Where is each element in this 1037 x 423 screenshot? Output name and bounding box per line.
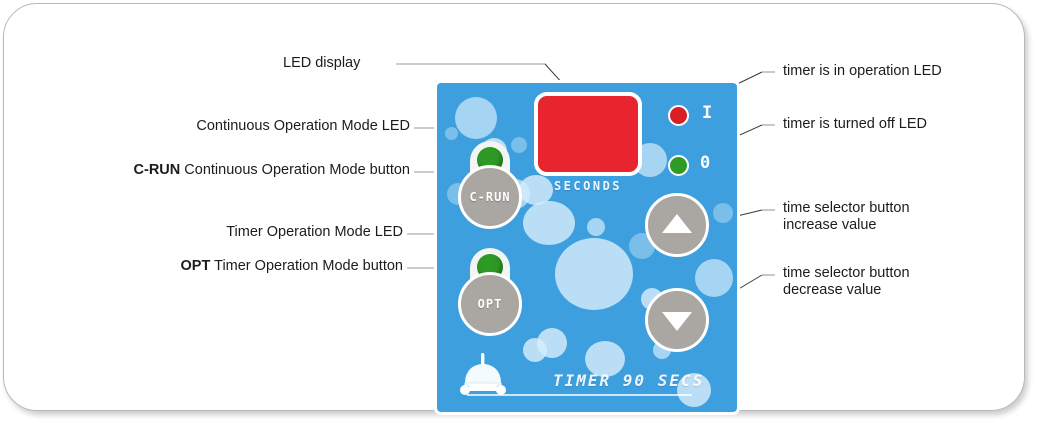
- bubble-decoration: [713, 203, 733, 223]
- status-led-off: [668, 155, 689, 176]
- increase-button[interactable]: [645, 193, 709, 257]
- callout-timer-off-text: timer is turned off LED: [783, 116, 927, 132]
- device-panel: SECONDS I 0 C-RUN OPT: [437, 83, 737, 412]
- status-led-running-symbol: I: [702, 103, 712, 123]
- crun-button-label: C-RUN: [469, 190, 510, 204]
- callout-timer-off: timer is turned off LED: [783, 116, 927, 133]
- callout-timer-running-text: timer is in operation LED: [783, 63, 942, 79]
- callout-timer-running: timer is in operation LED: [783, 63, 942, 80]
- callout-decrease-line1: time selector button: [783, 265, 910, 282]
- bubble-decoration: [695, 259, 733, 297]
- callout-opt-bold: OPT: [181, 258, 211, 274]
- callout-crun-bold: C-RUN: [134, 162, 181, 178]
- opt-button[interactable]: OPT: [458, 272, 522, 336]
- bubble-decoration: [537, 328, 567, 358]
- lamp-icon: [457, 353, 509, 397]
- crun-button[interactable]: C-RUN: [458, 165, 522, 229]
- callout-led-display-text: LED display: [283, 55, 360, 71]
- status-led-off-symbol: 0: [700, 153, 710, 173]
- bubble-decoration: [445, 127, 458, 140]
- led-display: [534, 92, 642, 176]
- brand-label: TIMER 90 SECS: [553, 371, 704, 390]
- bubble-decoration: [511, 137, 527, 153]
- callout-decrease-line2: decrease value: [783, 282, 910, 299]
- callout-continuous-led: Continuous Operation Mode LED: [86, 118, 410, 135]
- bubble-decoration: [587, 218, 605, 236]
- up-triangle-icon: [662, 214, 692, 233]
- callout-opt-rest: Timer Operation Mode button: [214, 258, 403, 274]
- opt-button-label: OPT: [478, 297, 503, 311]
- callout-timer-led: Timer Operation Mode LED: [86, 224, 403, 241]
- brand-rule: [467, 394, 692, 396]
- callout-crun-rest: Continuous Operation Mode button: [184, 162, 410, 178]
- diagram-root: Continuous Operation Mode LED C-RUN Cont…: [0, 0, 1037, 423]
- bubble-decoration: [555, 238, 633, 310]
- callout-increase-line2: increase value: [783, 217, 910, 234]
- callout-decrease: time selector button decrease value: [783, 265, 910, 299]
- down-triangle-icon: [662, 312, 692, 331]
- status-led-running: [668, 105, 689, 126]
- callout-increase-line1: time selector button: [783, 200, 910, 217]
- callout-led-display: LED display: [283, 55, 360, 72]
- callout-crun-button: C-RUN Continuous Operation Mode button: [20, 162, 410, 179]
- callout-opt-button: OPT Timer Operation Mode button: [20, 258, 403, 275]
- callout-continuous-led-text: Continuous Operation Mode LED: [196, 118, 410, 134]
- bubble-decoration: [455, 97, 497, 139]
- seconds-label: SECONDS: [534, 179, 642, 193]
- bubble-decoration: [523, 201, 575, 245]
- decrease-button[interactable]: [645, 288, 709, 352]
- callout-timer-led-text: Timer Operation Mode LED: [226, 224, 403, 240]
- callout-increase: time selector button increase value: [783, 200, 910, 234]
